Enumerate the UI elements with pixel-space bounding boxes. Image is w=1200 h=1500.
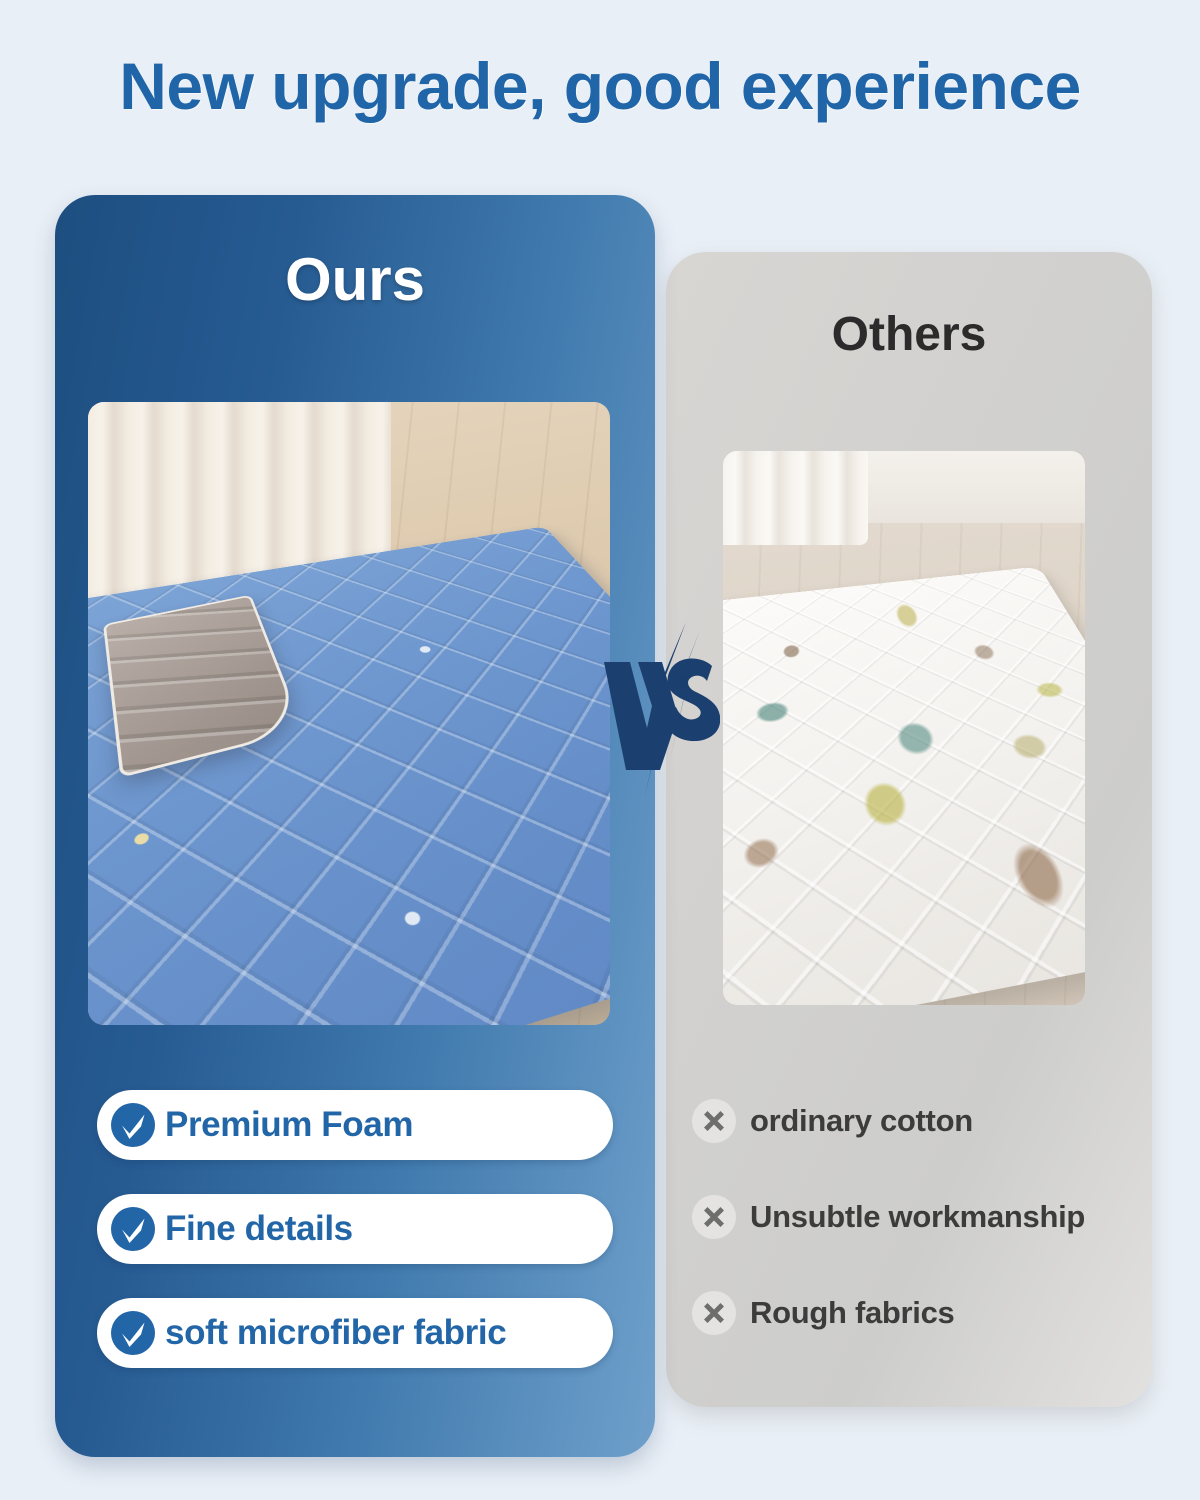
list-item-label: Premium Foam	[165, 1105, 413, 1145]
list-item-label: Rough fabrics	[750, 1295, 955, 1331]
page-title: New upgrade, good experience	[0, 48, 1200, 124]
x-circle-icon	[690, 1289, 738, 1337]
ours-feature-list: Premium Foam Fine details soft microfibe…	[97, 1090, 613, 1402]
list-item[interactable]: Fine details	[97, 1194, 613, 1264]
others-product-photo	[723, 451, 1085, 1005]
list-item: Unsubtle workmanship	[690, 1186, 1142, 1248]
wall-backdrop	[861, 451, 1085, 523]
list-item-label: ordinary cotton	[750, 1103, 973, 1139]
vs-lightning-icon	[600, 620, 720, 800]
list-item: Rough fabrics	[690, 1282, 1142, 1344]
list-item[interactable]: soft microfiber fabric	[97, 1298, 613, 1368]
blue-quilted-mat	[88, 527, 610, 1025]
others-panel: Others ordinary cotton Unsubtle	[666, 252, 1152, 1407]
white-quilted-mat	[723, 566, 1085, 1005]
check-circle-icon	[109, 1309, 157, 1357]
others-feature-list: ordinary cotton Unsubtle workmanship Rou…	[690, 1090, 1142, 1378]
x-circle-icon	[690, 1097, 738, 1145]
list-item-label: Fine details	[165, 1209, 353, 1249]
list-item: ordinary cotton	[690, 1090, 1142, 1152]
list-item[interactable]: Premium Foam	[97, 1090, 613, 1160]
list-item-label: Unsubtle workmanship	[750, 1199, 1085, 1235]
ours-product-photo	[88, 402, 610, 1025]
others-heading: Others	[666, 307, 1152, 362]
vs-badge	[600, 620, 720, 800]
x-circle-icon	[690, 1193, 738, 1241]
ours-panel: Ours Premium Foam Fine details	[55, 195, 655, 1457]
check-circle-icon	[109, 1205, 157, 1253]
curtain-backdrop	[723, 451, 868, 545]
list-item-label: soft microfiber fabric	[165, 1313, 506, 1353]
ours-heading: Ours	[55, 245, 655, 314]
check-circle-icon	[109, 1101, 157, 1149]
